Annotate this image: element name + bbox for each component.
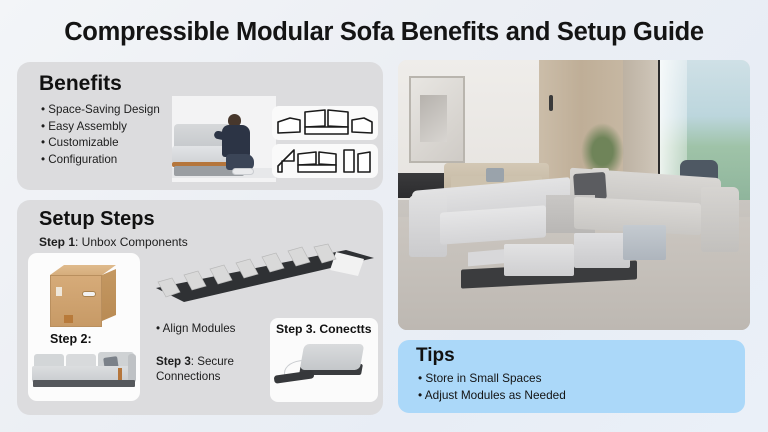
person-torso <box>222 125 250 157</box>
tips-list: Store in Small Spaces Adjust Modules as … <box>418 370 566 404</box>
tips-heading: Tips <box>416 345 455 367</box>
benefits-heading: Benefits <box>39 72 122 96</box>
sofa-outline-diagram-bottom <box>272 144 378 178</box>
box-front-face <box>50 275 102 327</box>
ottoman-module-2 <box>574 233 630 268</box>
box-handle <box>82 291 96 297</box>
infographic-canvas: Compressible Modular Sofa Benefits and S… <box>0 0 768 432</box>
step3-card: Step 3. Conectts <box>270 318 378 402</box>
potted-plant <box>578 119 627 173</box>
background-sofa-pillow <box>486 168 504 182</box>
cardboard-box-image <box>50 265 116 327</box>
ottoman-module-1 <box>504 244 574 276</box>
ottoman-module-3 <box>623 225 665 260</box>
wall-sconce <box>549 95 553 111</box>
assembly-photo <box>172 96 276 182</box>
slat-frame-image <box>150 242 380 312</box>
cushion-module <box>300 344 365 370</box>
mini-sofa-base <box>33 380 135 387</box>
mini-sofa-image <box>32 350 136 392</box>
page-title: Compressible Modular Sofa Benefits and S… <box>0 18 768 47</box>
mini-sofa-arm <box>128 354 136 382</box>
box-label <box>56 287 62 296</box>
step3-line: Step 3: Secure Connections <box>156 354 268 384</box>
box-tape <box>64 315 73 323</box>
mini-sofa-wood-trim <box>118 368 122 380</box>
person-shoe <box>232 168 254 175</box>
step3-card-title: Step 3. Conectts <box>276 322 372 336</box>
step2-label: Step 2: <box>50 332 92 346</box>
step3-prefix: Step 3 <box>156 355 191 368</box>
list-item: Store in Small Spaces <box>418 370 566 387</box>
step1-card: Step 2: <box>28 253 140 401</box>
sofa-outline-diagram-top <box>272 106 378 140</box>
step1-prefix: Step 1 <box>39 235 75 249</box>
wall-artwork <box>409 76 465 162</box>
list-item: Adjust Modules as Needed <box>418 387 566 404</box>
setup-heading: Setup Steps <box>39 208 155 231</box>
align-modules-bullet: • Align Modules <box>156 322 235 335</box>
tips-panel: Tips Store in Small Spaces Adjust Module… <box>398 340 745 413</box>
box-side-face <box>102 269 116 321</box>
hero-sofa-photo <box>398 60 750 330</box>
sectional-arm-right <box>701 187 740 252</box>
